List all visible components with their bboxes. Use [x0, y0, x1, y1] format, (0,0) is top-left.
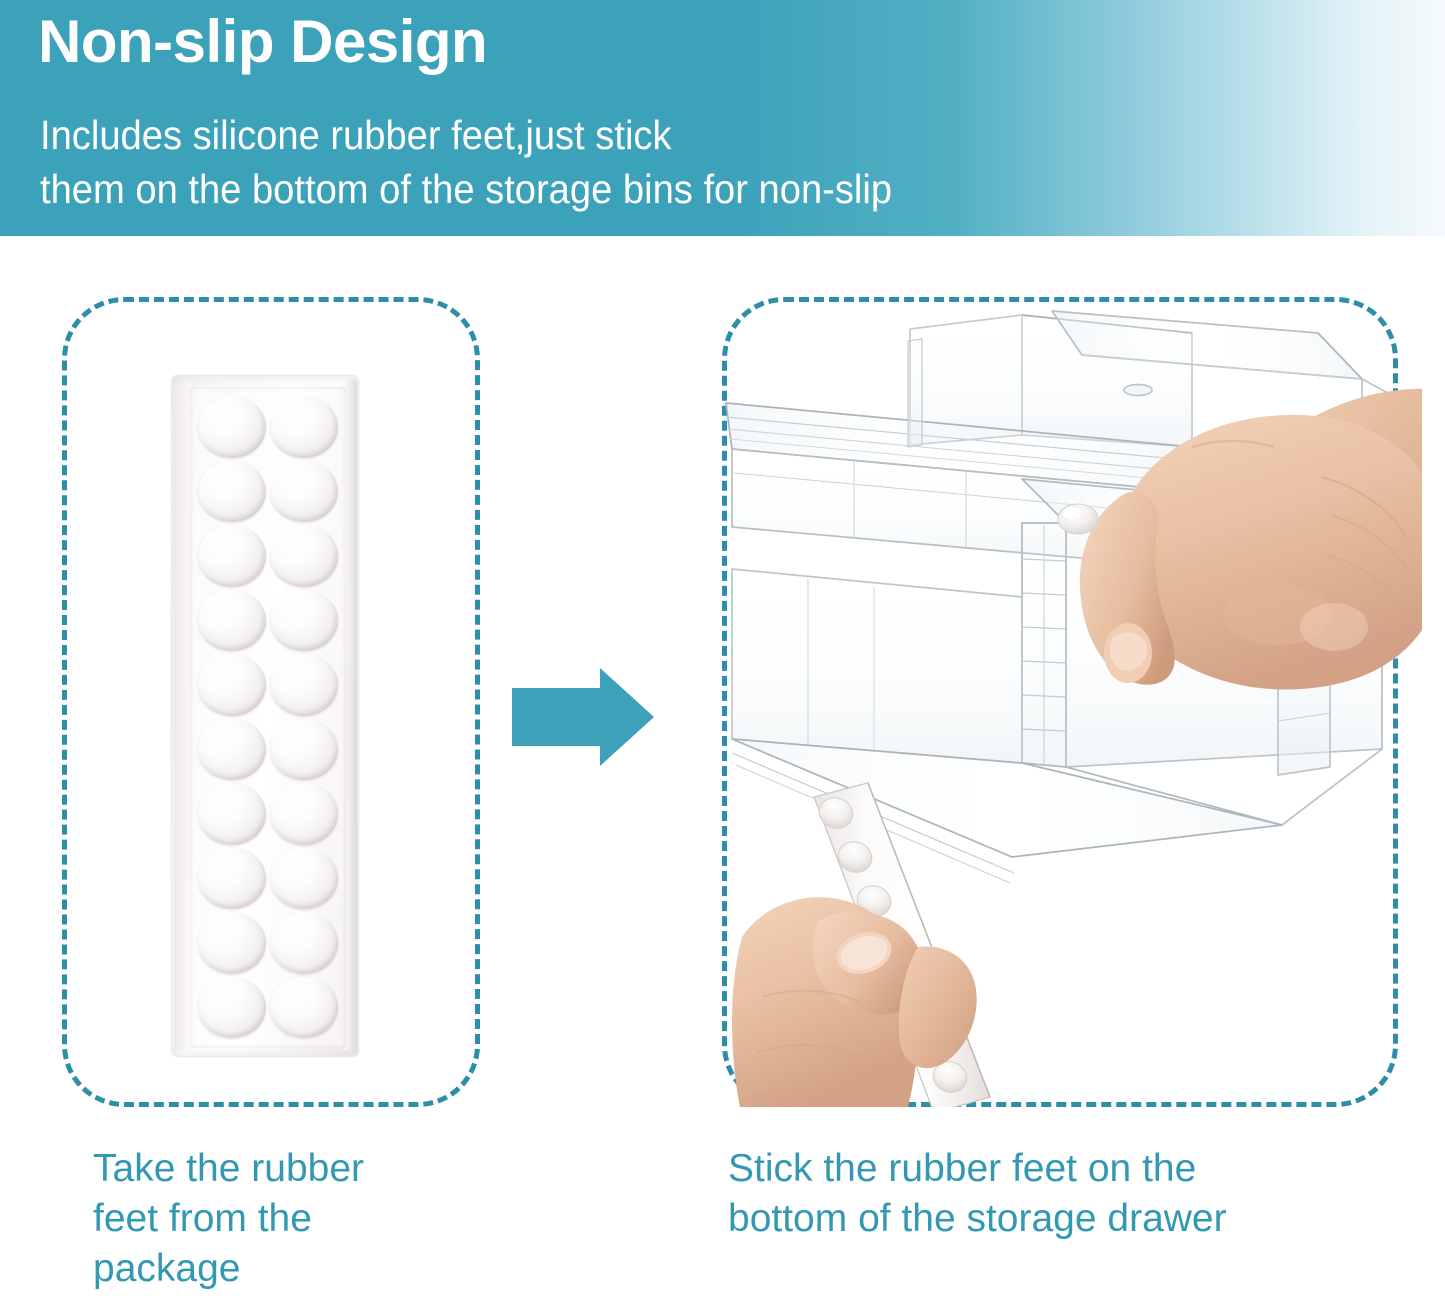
- caption-right: Stick the rubber feet on the bottom of t…: [728, 1144, 1418, 1244]
- rubber-bumper: [198, 590, 266, 652]
- rubber-bumper: [270, 977, 338, 1039]
- rubber-bumper: [270, 654, 338, 716]
- rubber-bumper: [270, 525, 338, 587]
- header-banner: Non-slip Design Includes silicone rubber…: [0, 0, 1445, 236]
- rubber-bumper: [198, 977, 266, 1039]
- caption-left-line-3: package: [93, 1244, 493, 1294]
- flow-arrow-right-icon: [512, 668, 654, 766]
- rubber-bumper: [198, 719, 266, 781]
- rubber-bumper: [198, 912, 266, 974]
- rubber-bumper: [198, 461, 266, 523]
- rubber-bumper: [270, 848, 338, 910]
- caption-right-line-1: Stick the rubber feet on the: [728, 1144, 1418, 1194]
- caption-left-line-1: Take the rubber: [93, 1144, 493, 1194]
- caption-left-line-2: feet from the: [93, 1194, 493, 1244]
- product-infographic: Non-slip Design Includes silicone rubber…: [0, 0, 1445, 1304]
- drawer-application-photo: [722, 297, 1422, 1107]
- rubber-bumper: [270, 396, 338, 458]
- rubber-bumper: [198, 654, 266, 716]
- bumper-grid: [198, 396, 338, 1038]
- rubber-bumper: [198, 396, 266, 458]
- rubber-bumper: [270, 912, 338, 974]
- rubber-bumper: [198, 848, 266, 910]
- header-subtitle-line-1: Includes silicone rubber feet,just stick: [40, 108, 892, 162]
- rubber-bumper: [270, 783, 338, 845]
- rubber-bumper: [198, 525, 266, 587]
- caption-right-line-2: bottom of the storage drawer: [728, 1194, 1418, 1244]
- rubber-bumper: [270, 719, 338, 781]
- rubber-bumper: [198, 783, 266, 845]
- blister-left-edge: [174, 382, 191, 1050]
- header-subtitle: Includes silicone rubber feet,just stick…: [40, 108, 892, 216]
- header-subtitle-line-2: them on the bottom of the storage bins f…: [40, 162, 892, 216]
- blister-pack-photo: [172, 376, 358, 1056]
- caption-left: Take the rubber feet from the package: [93, 1144, 493, 1294]
- rubber-bumper: [270, 461, 338, 523]
- applied-rubber-foot: [1058, 504, 1098, 534]
- rubber-bumper: [270, 590, 338, 652]
- page-title: Non-slip Design: [38, 10, 487, 73]
